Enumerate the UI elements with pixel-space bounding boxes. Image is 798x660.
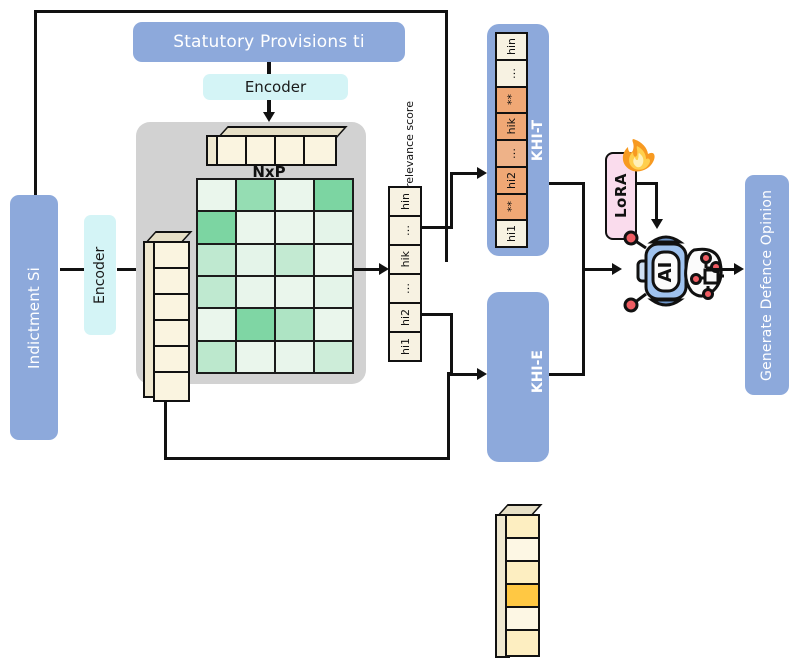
lora-label: LoRA <box>612 173 630 218</box>
relevance-token-label: hik <box>400 251 411 267</box>
indictment-cube-stack <box>143 231 187 399</box>
feedback-top-right-drop <box>445 10 448 262</box>
lora-robot-drop <box>655 182 658 222</box>
heatmap-cell <box>315 277 352 307</box>
ai-robot-icon[interactable]: AI <box>618 228 728 314</box>
heatmap-cell <box>237 277 274 307</box>
khie-branch-arrowhead <box>477 368 487 380</box>
relevance-token: hi2 <box>390 304 420 331</box>
heatmap-cell <box>315 180 352 210</box>
relevance-heatmap <box>196 178 354 374</box>
relevance-token-label: … <box>400 225 411 236</box>
feedback-top-rail <box>34 10 448 13</box>
encoder-left[interactable]: Encoder <box>84 215 116 335</box>
khie-branch-arrow-line <box>450 373 480 376</box>
lora-robot-line <box>637 182 657 185</box>
relevance-token-column: hin…hik…hi2hi1 <box>388 186 422 362</box>
khi-t-token-label: hin <box>506 38 517 55</box>
khie-branch-stub <box>421 313 453 316</box>
relevance-token: … <box>390 217 420 244</box>
heatmap-cell <box>237 342 274 372</box>
heatmap-cell <box>315 245 352 275</box>
khi-t-token-label: hik <box>506 118 517 134</box>
khi-e-label: KHI-E <box>530 350 546 393</box>
relevance-token: hik <box>390 246 420 273</box>
relevance-token: … <box>390 275 420 302</box>
khi-t-token: hi1 <box>497 221 526 246</box>
heatmap-cell <box>237 212 274 242</box>
heatmap-cell <box>198 245 235 275</box>
relevance-score-axis-label: relevance score <box>403 108 416 188</box>
heatmap-cell <box>198 342 235 372</box>
heatmap-cell <box>276 245 313 275</box>
khit-branch-stub <box>421 226 453 229</box>
heatmap-token-line <box>354 268 380 271</box>
statutory-provisions-label: Statutory Provisions ti <box>173 32 365 52</box>
khi-t-token: hik <box>497 114 526 139</box>
heatmap-cell <box>198 277 235 307</box>
khi-t-token: hin <box>497 34 526 59</box>
heatmap-cell <box>276 212 313 242</box>
khit-branch-arrow-line <box>450 172 480 175</box>
khie-branch-drop <box>450 313 453 376</box>
khi-t-token: hi2 <box>497 168 526 193</box>
khit-branch-riser <box>450 172 453 228</box>
khi-e-cube-6 <box>505 629 540 657</box>
khie-merge-line <box>549 373 585 376</box>
heatmap-cell <box>276 277 313 307</box>
generate-defence-opinion-box[interactable]: Generate Defence Opinion <box>745 175 789 395</box>
generate-defence-opinion-label: Generate Defence Opinion <box>759 189 775 380</box>
encoder-nxp-arrowhead <box>263 112 275 122</box>
heatmap-cell <box>315 309 352 339</box>
robot-output-arrowhead <box>734 263 744 275</box>
khi-robot-line <box>582 268 614 271</box>
khi-t-token: … <box>497 61 526 86</box>
heatmap-cell <box>276 309 313 339</box>
khi-t-token: … <box>497 141 526 166</box>
heatmap-cell <box>237 245 274 275</box>
ai-badge-text: AI <box>655 262 676 283</box>
khi-t-token-label: hi1 <box>506 225 517 242</box>
relevance-token-label: hin <box>400 193 411 210</box>
khi-t-token: ** <box>497 88 526 113</box>
khi-merge-riser <box>582 182 585 376</box>
heatmap-cell <box>237 180 274 210</box>
heatmap-cell <box>198 212 235 242</box>
encoder-top[interactable]: Encoder <box>203 74 348 100</box>
khi-t-token-column: hin…**hik…hi2**hi1 <box>495 32 528 248</box>
feedback-bottom-rail <box>164 457 450 460</box>
statutory-encoder-line <box>267 62 271 74</box>
indictment-box[interactable]: Indictment Si <box>10 195 58 440</box>
encoder-top-label: Encoder <box>245 78 306 96</box>
khit-merge-line <box>549 182 585 185</box>
indictment-cube-6 <box>153 371 190 402</box>
heatmap-cell <box>237 309 274 339</box>
relevance-token: hi1 <box>390 333 420 360</box>
relevance-token: hin <box>390 188 420 215</box>
khi-t-token-label: … <box>506 68 517 79</box>
heatmap-cell <box>315 342 352 372</box>
khi-t-token: ** <box>497 195 526 220</box>
relevance-token-label: hi2 <box>400 309 411 326</box>
khi-t-token-label: ** <box>506 201 517 212</box>
khi-t-token-label: hi2 <box>506 172 517 189</box>
relevance-token-label: … <box>400 283 411 294</box>
khi-t-label: KHI-T <box>530 120 546 161</box>
nxp-cube-4 <box>303 135 337 166</box>
khi-e-cube-stack <box>495 504 539 660</box>
khit-branch-arrowhead <box>477 167 487 179</box>
heatmap-cell <box>276 180 313 210</box>
feedback-top-left-riser <box>34 10 37 200</box>
khi-t-token-label: ** <box>506 94 517 105</box>
heatmap-cell <box>315 212 352 242</box>
heatmap-cell <box>276 342 313 372</box>
indictment-label: Indictment Si <box>25 266 43 368</box>
encoder-left-label: Encoder <box>92 246 108 303</box>
robot-output-line <box>712 268 736 271</box>
relevance-token-label: hi1 <box>400 338 411 355</box>
heatmap-cell <box>198 180 235 210</box>
diagram-canvas: Indictment Si Encoder Statutory Provisio… <box>0 0 798 480</box>
heatmap-cell <box>198 309 235 339</box>
feedback-bottom-right-riser <box>447 372 450 458</box>
statutory-provisions-box[interactable]: Statutory Provisions ti <box>133 22 405 62</box>
arrow-indictment-encoder-line <box>60 268 84 271</box>
nxp-cube-row <box>206 126 332 162</box>
khi-t-token-label: … <box>506 148 517 159</box>
flame-icon <box>617 138 657 172</box>
